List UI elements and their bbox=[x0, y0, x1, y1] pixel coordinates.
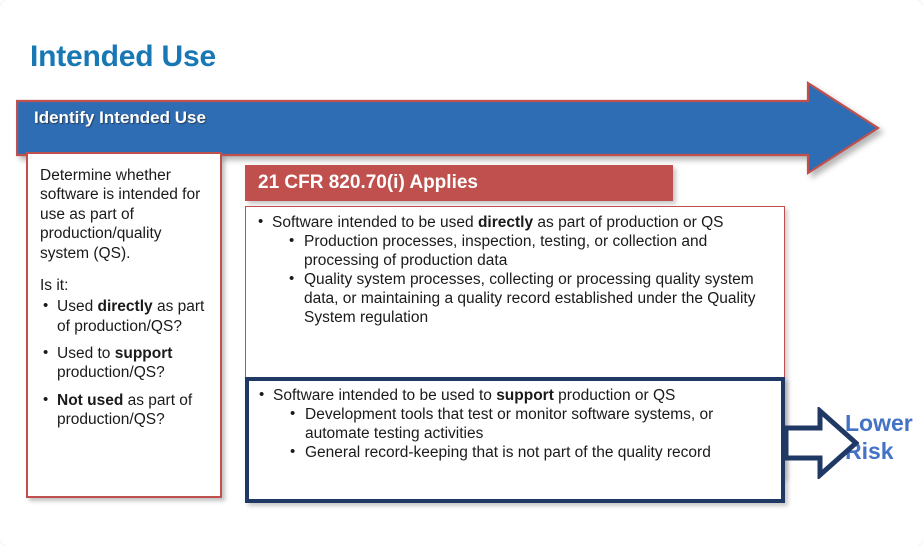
list-item: Software intended to be used directly as… bbox=[256, 214, 776, 327]
list-item: Quality system processes, collecting or … bbox=[286, 271, 776, 328]
item-bold: Not used bbox=[57, 392, 123, 409]
red-box-sublist: Production processes, inspection, testin… bbox=[272, 233, 776, 328]
page-title: Intended Use bbox=[30, 40, 216, 74]
left-box-list: Used directly as part of production/QS? … bbox=[40, 297, 210, 429]
item-bold: support bbox=[115, 345, 173, 362]
left-box-question: Is it: bbox=[40, 276, 210, 295]
support-software-box: Software intended to be used to support … bbox=[245, 377, 785, 503]
bullet-bold: support bbox=[496, 387, 554, 404]
list-item: Software intended to be used to support … bbox=[257, 387, 775, 463]
bullet-post: as part of production or QS bbox=[533, 214, 723, 231]
bullet-pre: Software intended to be used bbox=[272, 214, 478, 231]
list-item: Not used as part of production/QS? bbox=[57, 391, 210, 430]
item-pre: Used to bbox=[57, 345, 115, 362]
bullet-pre: Software intended to be used to bbox=[273, 387, 496, 404]
banner-label: Identify Intended Use bbox=[34, 108, 206, 128]
bullet-post: production or QS bbox=[554, 387, 675, 404]
cfr-applies-header: 21 CFR 820.70(i) Applies bbox=[245, 165, 673, 201]
item-post: production/QS? bbox=[57, 364, 165, 381]
list-item: General record-keeping that is not part … bbox=[287, 444, 775, 463]
navy-box-sublist: Development tools that test or monitor s… bbox=[273, 406, 775, 463]
list-item: Production processes, inspection, testin… bbox=[286, 233, 776, 271]
left-box-intro: Determine whether software is intended f… bbox=[40, 166, 210, 263]
list-item: Used directly as part of production/QS? bbox=[57, 297, 210, 336]
bullet-bold: directly bbox=[478, 214, 533, 231]
determine-intended-use-box: Determine whether software is intended f… bbox=[26, 152, 222, 498]
list-item: Development tools that test or monitor s… bbox=[287, 406, 775, 444]
slide-canvas: Intended Use Identify Intended Use Deter… bbox=[0, 0, 923, 546]
left-box-spacer bbox=[40, 263, 210, 276]
lower-risk-arrow-icon bbox=[783, 407, 859, 479]
item-bold: directly bbox=[98, 298, 153, 315]
cfr-applies-header-label: 21 CFR 820.70(i) Applies bbox=[258, 172, 478, 194]
navy-box-list: Software intended to be used to support … bbox=[257, 387, 775, 463]
item-pre: Used bbox=[57, 298, 98, 315]
list-item: Used to support production/QS? bbox=[57, 344, 210, 383]
red-box-list: Software intended to be used directly as… bbox=[256, 214, 776, 327]
